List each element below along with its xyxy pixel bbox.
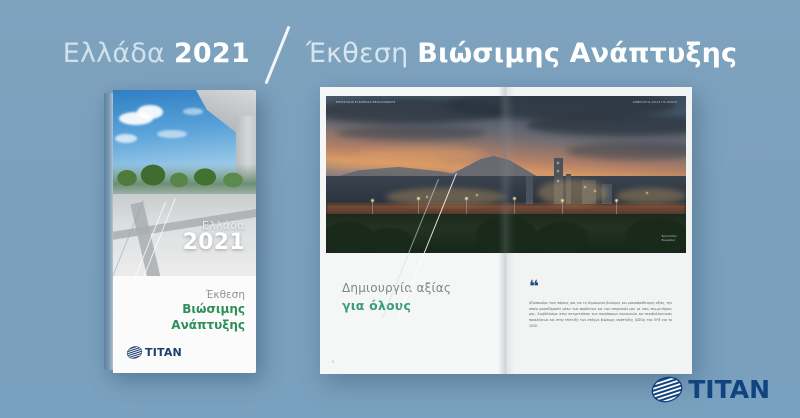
spread-body-text: Αξιοποιούμε τους πόρους μας για τη δημιο… [529, 301, 672, 330]
titan-globe-icon [650, 376, 684, 403]
photo-lamp-light [513, 197, 516, 200]
header-right-group: Έκθεση Βιώσιμης Ανάπτυξης [306, 38, 737, 69]
spread-heading-block: Δημιουργία αξίας για όλους [342, 281, 451, 313]
photo-light [557, 162, 559, 164]
cover-title-block: Ελλάδα 2021 [183, 220, 245, 255]
photo-light [557, 170, 559, 172]
cover-cloud [137, 105, 163, 119]
photo-bush [626, 218, 686, 253]
header-left-group: Ελλάδα 2021 [63, 38, 250, 69]
photo-light [646, 192, 648, 194]
report-open-spread: ΕΡΓΟΣΤΑΣΙΟ ΕΥΚΑΡΠΙΑΣ ΘΕΣΣΑΛΟΝΙΚΗΣ ΔΗΜΙΟΥ… [320, 87, 692, 374]
photo-bush [476, 216, 536, 253]
spread-page-number: 5 [332, 360, 334, 364]
photo-light [557, 180, 559, 182]
photo-credit-line-2: Ευκαρπίας [662, 239, 677, 243]
slash-divider-icon [250, 26, 306, 80]
photo-lamp-light [417, 197, 420, 200]
photo-bush [536, 222, 588, 253]
photo-caption-top-left: ΕΡΓΟΣΤΑΣΙΟ ΕΥΚΑΡΠΙΑΣ ΘΕΣΣΑΛΟΝΙΚΗΣ [336, 101, 395, 104]
cover-subtitle-green-2: Ανάπτυξης [171, 318, 245, 332]
cover-subtitle-block: Έκθεση Βιώσιμης Ανάπτυξης [171, 289, 245, 332]
photo-light [426, 196, 428, 198]
photo-city-glow [616, 188, 686, 204]
cover-year-label: 2021 [183, 232, 245, 254]
photo-lamp-light [561, 199, 564, 202]
spread-heading-green: για όλους [342, 298, 451, 313]
photo-sunlit-cloud [326, 158, 446, 168]
header-report-label: Έκθεση [306, 38, 409, 69]
titan-globe-icon [126, 346, 143, 359]
page-title: Ελλάδα 2021 Έκθεση Βιώσιμης Ανάπτυξης [0, 26, 800, 80]
photo-plant-silo [526, 176, 533, 204]
header-country-label: Ελλάδα [63, 38, 165, 69]
photo-plant-glow [538, 180, 608, 206]
cover-cloud [115, 134, 137, 143]
photo-caption-top-right: ΔΗΜΙΟΥΡΓΙΑ ΑΞΙΑΣ ΓΙΑ ΟΛΟΥΣ [633, 101, 677, 104]
footer-brand-wordmark: TITAN [688, 375, 770, 404]
book-front-face: Ελλάδα 2021 Έκθεση Βιώσιμης Ανάπτυξης [113, 90, 256, 373]
header-year-label: 2021 [174, 38, 250, 69]
photo-lamp-light [371, 199, 374, 202]
photo-light [476, 194, 478, 196]
cover-cloud [157, 130, 187, 138]
photo-bush [366, 228, 412, 253]
footer-brand-logo: TITAN [650, 375, 770, 404]
photo-credit: Εργοστάσιο Ευκαρπίας [662, 235, 677, 243]
header-report-bold-label: Βιώσιμης Ανάπτυξης [417, 38, 737, 69]
photo-light [584, 186, 586, 188]
cover-subtitle-green-1: Βιώσιμης [171, 302, 245, 316]
poster-canvas: Ελλάδα 2021 Έκθεση Βιώσιμης Ανάπτυξης [0, 0, 800, 418]
photo-lamp-light [615, 199, 618, 202]
cover-cloud [183, 108, 203, 115]
photo-lamp-light [465, 197, 468, 200]
cover-brand-logo: TITAN [126, 346, 182, 359]
quote-mark-icon: ❝ [529, 279, 538, 296]
spread-hero-photograph: ΕΡΓΟΣΤΑΣΙΟ ΕΥΚΑΡΠΙΑΣ ΘΕΣΣΑΛΟΝΙΚΗΣ ΔΗΜΙΟΥ… [326, 96, 686, 253]
report-book-cover: Ελλάδα 2021 Έκθεση Βιώσιμης Ανάπτυξης [104, 90, 256, 373]
photo-cloud [336, 126, 486, 140]
spread-heading-grey: Δημιουργία αξίας [342, 281, 451, 296]
photo-light [594, 190, 596, 192]
cover-subtitle-grey: Έκθεση [171, 289, 245, 301]
cover-brand-wordmark: TITAN [145, 346, 182, 359]
